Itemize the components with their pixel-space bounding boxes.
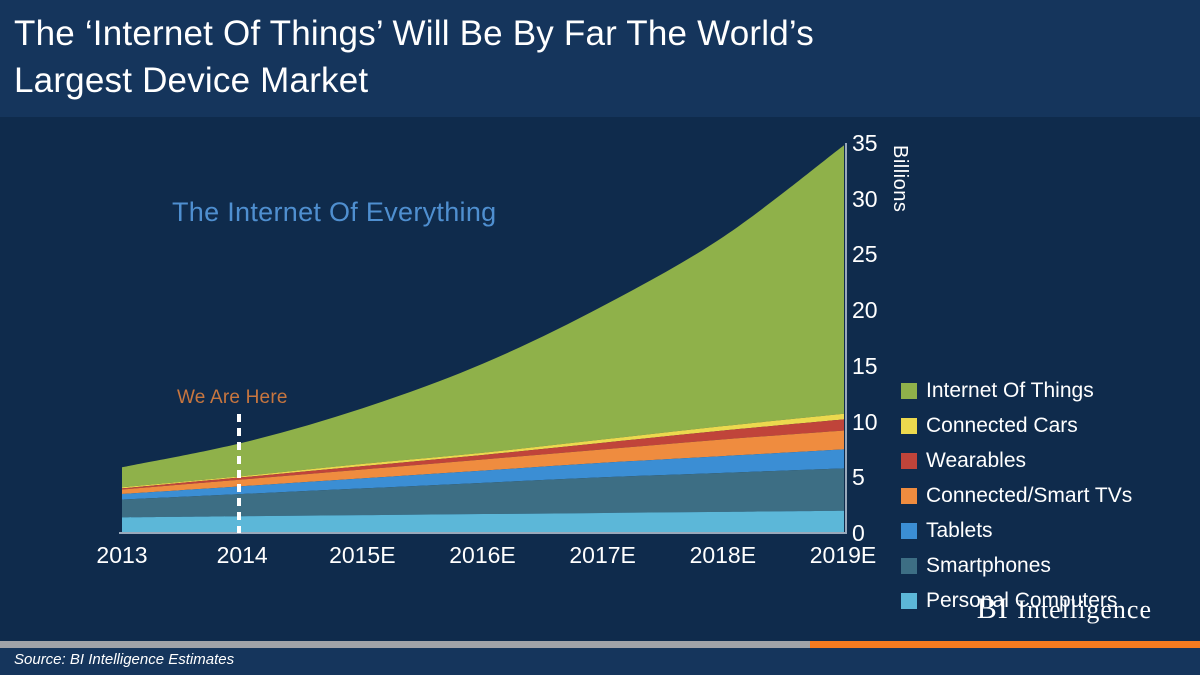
legend-swatch-icon	[901, 488, 917, 504]
y-axis-tick-10: 10	[852, 411, 890, 434]
page-title: The ‘Internet Of Things’ Will Be By Far …	[14, 10, 1064, 104]
legend-swatch-icon	[901, 383, 917, 399]
legend-swatch-icon	[901, 558, 917, 574]
internet-of-everything-annotation: The Internet Of Everything	[172, 197, 496, 228]
x-axis-tick-2019E: 2019E	[778, 542, 908, 568]
y-axis-line	[845, 143, 847, 534]
legend-item-label: Tablets	[926, 520, 993, 541]
x-axis-tick-2013: 2013	[57, 542, 187, 568]
chart-area: 35302520151050 Billions 201320142015E201…	[0, 117, 1200, 588]
legend-item-2[interactable]: Wearables	[901, 443, 1191, 478]
legend-item-label: Wearables	[926, 450, 1026, 471]
brand-logo: BI Intelligence	[977, 592, 1152, 626]
brand-first: BI	[977, 592, 1009, 625]
legend-item-label: Connected Cars	[926, 415, 1078, 436]
x-axis-tick-2018E: 2018E	[658, 542, 788, 568]
we-are-here-marker-line	[237, 414, 241, 533]
divider-gray-segment	[0, 641, 810, 648]
x-axis-line	[119, 532, 847, 534]
x-axis-tick-2014: 2014	[177, 542, 307, 568]
legend-swatch-icon	[901, 418, 917, 434]
legend-item-3[interactable]: Connected/Smart TVs	[901, 478, 1191, 513]
x-axis-tick-2017E: 2017E	[538, 542, 668, 568]
y-axis-unit-label: Billions	[888, 145, 911, 212]
x-axis-tick-2015E: 2015E	[297, 542, 427, 568]
legend-swatch-icon	[901, 523, 917, 539]
legend-item-5[interactable]: Smartphones	[901, 548, 1191, 583]
legend-item-0[interactable]: Internet Of Things	[901, 373, 1191, 408]
legend-swatch-icon	[901, 453, 917, 469]
footer-divider	[0, 641, 1200, 648]
legend-item-label: Internet Of Things	[926, 380, 1094, 401]
legend-item-1[interactable]: Connected Cars	[901, 408, 1191, 443]
legend-item-label: Smartphones	[926, 555, 1051, 576]
y-axis-tick-25: 25	[852, 243, 890, 266]
header-band: The ‘Internet Of Things’ Will Be By Far …	[0, 0, 1200, 117]
source-note: Source: BI Intelligence Estimates	[14, 651, 234, 668]
divider-orange-segment	[810, 641, 1200, 648]
y-axis-tick-35: 35	[852, 132, 890, 155]
x-axis-tick-2016E: 2016E	[418, 542, 548, 568]
we-are-here-annotation: We Are Here	[177, 387, 288, 409]
y-axis-tick-15: 15	[852, 355, 890, 378]
legend-item-4[interactable]: Tablets	[901, 513, 1191, 548]
legend-swatch-icon	[901, 593, 917, 609]
legend-item-label: Connected/Smart TVs	[926, 485, 1132, 506]
slide-canvas: The ‘Internet Of Things’ Will Be By Far …	[0, 0, 1200, 675]
y-axis-tick-30: 30	[852, 188, 890, 211]
brand-second: Intelligence	[1017, 595, 1152, 624]
y-axis-tick-20: 20	[852, 299, 890, 322]
y-axis-tick-5: 5	[852, 466, 890, 489]
chart-legend: Internet Of ThingsConnected CarsWearable…	[901, 373, 1191, 618]
